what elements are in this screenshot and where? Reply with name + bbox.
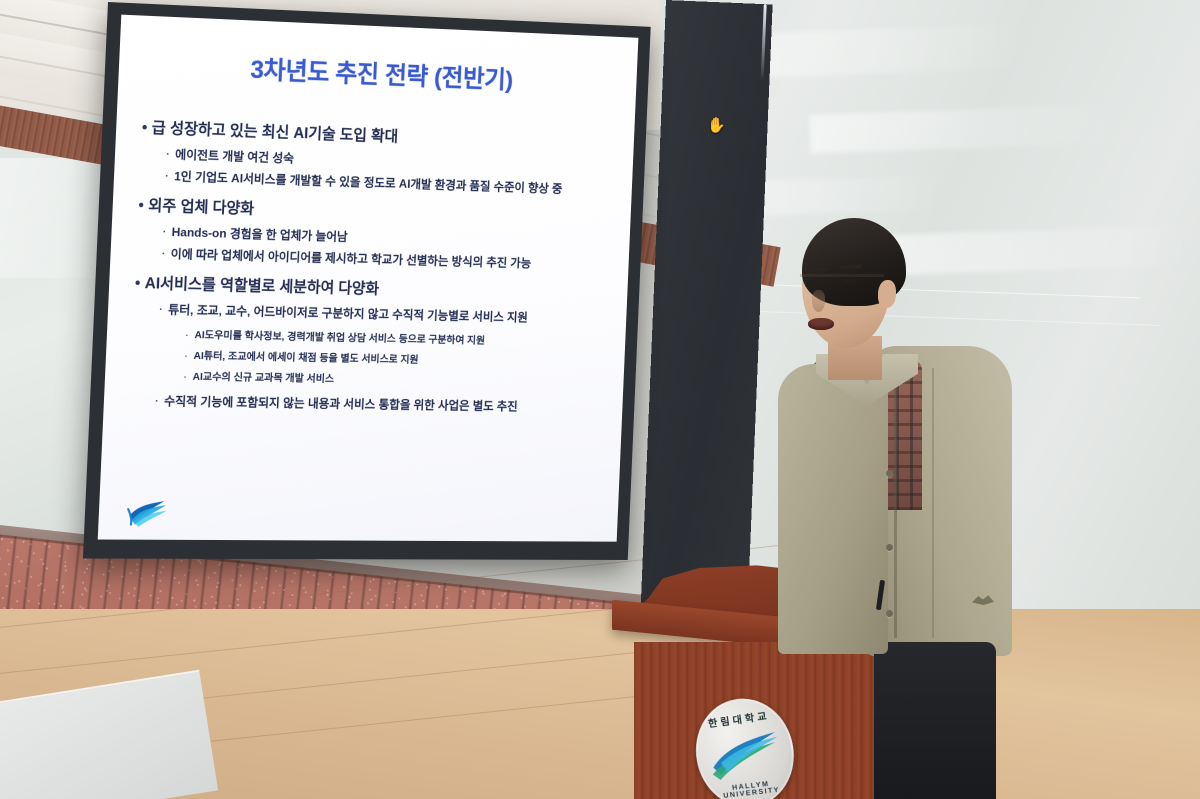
slide-bullet-l2-4: ·이에 따라 업체에서 아이디어를 제시하고 학교가 선별하는 방식의 추진 가… <box>162 244 532 271</box>
bullet-text: 외주 업체 다양화 <box>148 197 255 217</box>
hallym-wave-logo <box>126 498 169 528</box>
screen-bezel: 3차년도 추진 전략 (전반기) •급 성장하고 있는 최신 AI기술 도입 확… <box>83 2 651 560</box>
speaker-person <box>782 218 1017 799</box>
bullet-text: 1인 기업도 AI서비스를 개발할 수 있을 정도로 AI개발 환경과 품질 수… <box>174 169 563 195</box>
glasses <box>800 274 884 277</box>
eye-right <box>842 278 857 284</box>
jacket-left <box>778 364 888 654</box>
emblem-wave-logo <box>703 723 788 785</box>
slide-bullet-l1-2: •외주 업체 다양화 <box>138 193 255 218</box>
bullet-text: 수직적 기능에 포함되지 않는 내용과 서비스 통합을 위한 사업은 별도 추진 <box>164 394 518 413</box>
slide-content: 3차년도 추진 전략 (전반기) •급 성장하고 있는 최신 AI기술 도입 확… <box>98 15 639 542</box>
presentation-slide[interactable]: 3차년도 추진 전략 (전반기) •급 성장하고 있는 최신 AI기술 도입 확… <box>98 15 639 542</box>
slide-bullet-l2-1: ·에이전트 개발 여건 성숙 <box>166 144 294 166</box>
slide-bullet-l3-3: ·AI교수의 신규 교과목 개발 서비스 <box>184 368 335 385</box>
slide-bullet-l1-1: •급 성장하고 있는 최신 AI기술 도입 확대 <box>142 115 399 146</box>
bullet-text: AI교수의 신규 교과목 개발 서비스 <box>192 372 334 385</box>
slide-bullet-l2-5: ·튜터, 조교, 교수, 어드바이저로 구분하지 않고 수직적 기능별로 서비스… <box>159 299 528 325</box>
presentation-scene: ✋ 3차년도 추진 전략 (전반기) •급 성장하고 있는 최신 AI기술 도입… <box>0 0 1200 799</box>
bullet-text: 에이전트 개발 여건 성숙 <box>175 147 294 165</box>
jacket-seam-2 <box>932 368 934 638</box>
ear <box>878 280 896 308</box>
slide-bullet-l2-3: ·Hands-on 경험을 한 업체가 늘어남 <box>163 222 349 245</box>
bullet-text: 급 성장하고 있는 최신 AI기술 도입 확대 <box>151 120 398 146</box>
jacket-button-1 <box>886 470 893 477</box>
trousers <box>874 642 996 799</box>
jacket-seam <box>894 388 897 638</box>
bullet-text: Hands-on 경험을 한 업체가 늘어남 <box>171 225 348 244</box>
projection-screen-area: 3차년도 추진 전략 (전반기) •급 성장하고 있는 최신 AI기술 도입 확… <box>0 0 1200 799</box>
slide-bullet-l2-2: ·1인 기업도 AI서비스를 개발할 수 있을 정도로 AI개발 환경과 품질 … <box>165 166 563 197</box>
slide-title: 3차년도 추진 전략 (전반기) <box>118 45 637 102</box>
nose <box>812 290 825 312</box>
jacket-button-2 <box>886 544 893 551</box>
slide-bullet-l3-2: ·AI튜터, 조교에서 에세이 채점 등을 별도 서비스로 지원 <box>185 347 419 366</box>
bullet-text: AI도우미를 학사정보, 경력개발 취업 상담 서비스 등으로 구분하여 지원 <box>194 330 485 347</box>
eye-left <box>808 280 823 286</box>
jacket-button-3 <box>886 610 893 617</box>
slide-bullet-l3-1: ·AI도우미를 학사정보, 경력개발 취업 상담 서비스 등으로 구분하여 지원 <box>185 326 485 347</box>
mouth <box>808 318 834 330</box>
bullet-text: AI서비스를 역할별로 세분하여 다양화 <box>144 275 379 297</box>
bullet-text: 튜터, 조교, 교수, 어드바이저로 구분하지 않고 수직적 기능별로 서비스 … <box>168 303 528 325</box>
slide-bullet-l2-6: ·수직적 기능에 포함되지 않는 내용과 서비스 통합을 위한 사업은 별도 추… <box>155 391 518 414</box>
slide-bullet-l1-3: •AI서비스를 역할별로 세분하여 다양화 <box>135 271 380 299</box>
bullet-text: AI튜터, 조교에서 에세이 채점 등을 별도 서비스로 지원 <box>193 351 418 366</box>
bullet-text: 이에 따라 업체에서 아이디어를 제시하고 학교가 선별하는 방식의 추진 가능 <box>170 247 531 270</box>
